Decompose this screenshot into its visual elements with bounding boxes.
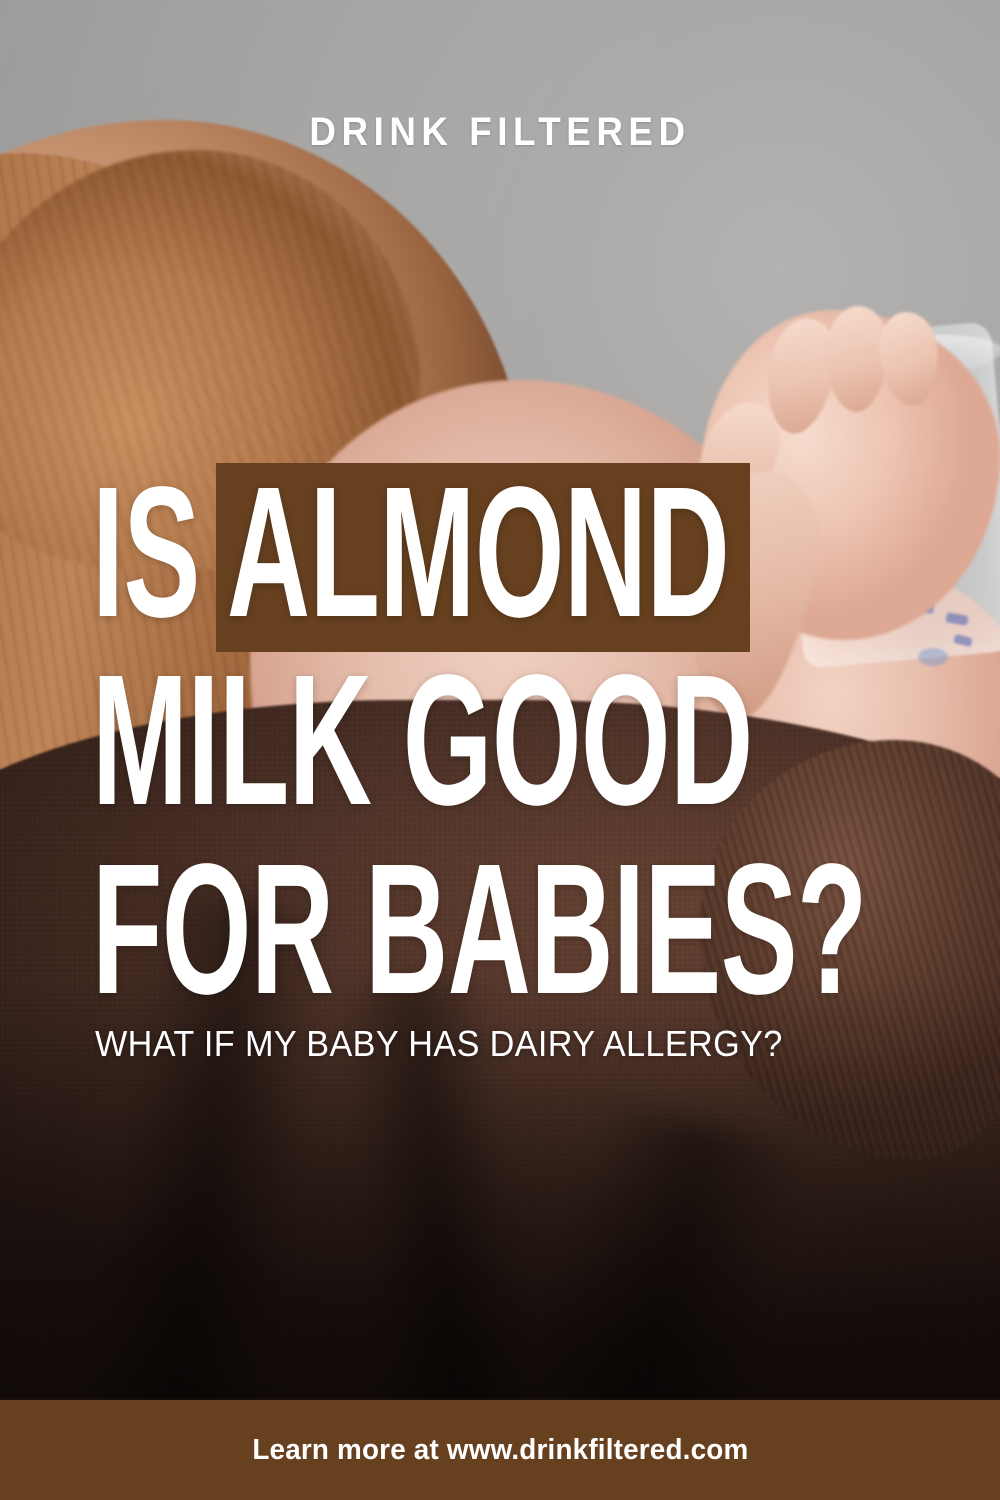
headline-block: IS ALMOND MILK GOOD FOR BABIES? [92, 462, 922, 1027]
footer-bar[interactable]: Learn more at www.drinkfiltered.com [0, 1400, 1000, 1500]
headline-line-1: IS ALMOND [92, 462, 607, 644]
pinterest-pin-graphic: DRINK FILTERED IS ALMOND MILK GOOD FOR B… [0, 0, 1000, 1500]
cup-marking [918, 648, 948, 666]
brand-name: DRINK FILTERED [40, 112, 960, 152]
headline-line-2: MILK GOOD [92, 650, 607, 832]
footer-website-link[interactable]: Learn more at www.drinkfiltered.com [252, 1434, 748, 1467]
subtitle: WHAT IF MY BABY HAS DAIRY ALLERGY? [95, 1026, 783, 1062]
headline-line-3: FOR BABIES? [92, 839, 607, 1021]
